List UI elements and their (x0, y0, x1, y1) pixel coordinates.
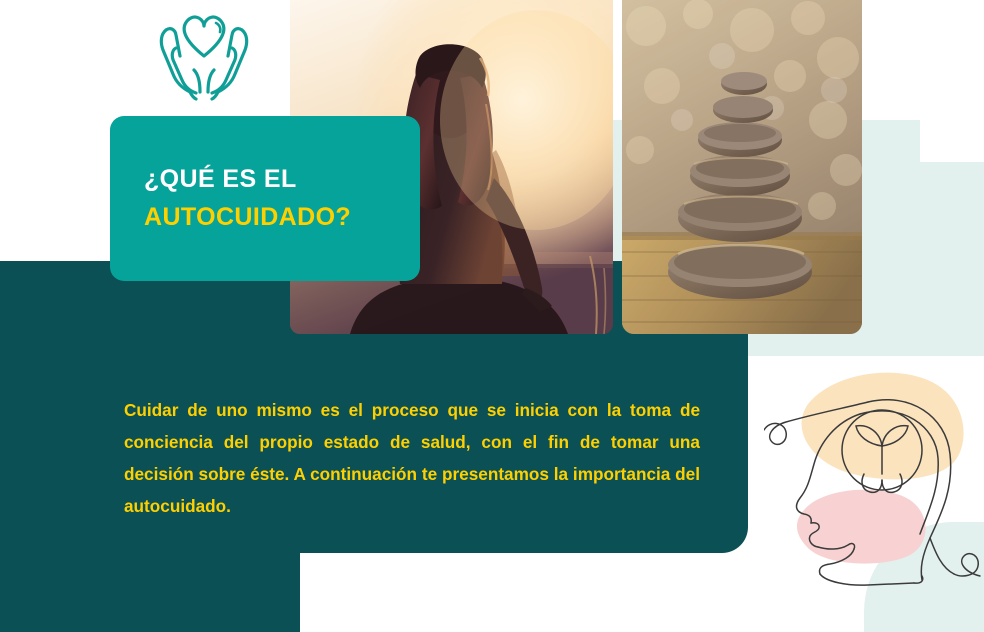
title-line-1: ¿QUÉ ES EL (144, 160, 420, 198)
body-paragraph: Cuidar de uno mismo es el proceso que se… (124, 394, 700, 522)
zen-stones-photo (622, 0, 862, 334)
heart-in-hands-icon (146, 4, 262, 104)
title-card: ¿QUÉ ES EL AUTOCUIDADO? (110, 116, 420, 281)
dark-teal-footer-block (0, 520, 300, 632)
pink-blob (797, 490, 926, 564)
infographic-slide: ¿QUÉ ES EL AUTOCUIDADO? Cuidar de uno mi… (0, 0, 984, 632)
title-line-2: AUTOCUIDADO? (144, 198, 420, 236)
head-profile-with-plant-illustration (764, 358, 984, 588)
